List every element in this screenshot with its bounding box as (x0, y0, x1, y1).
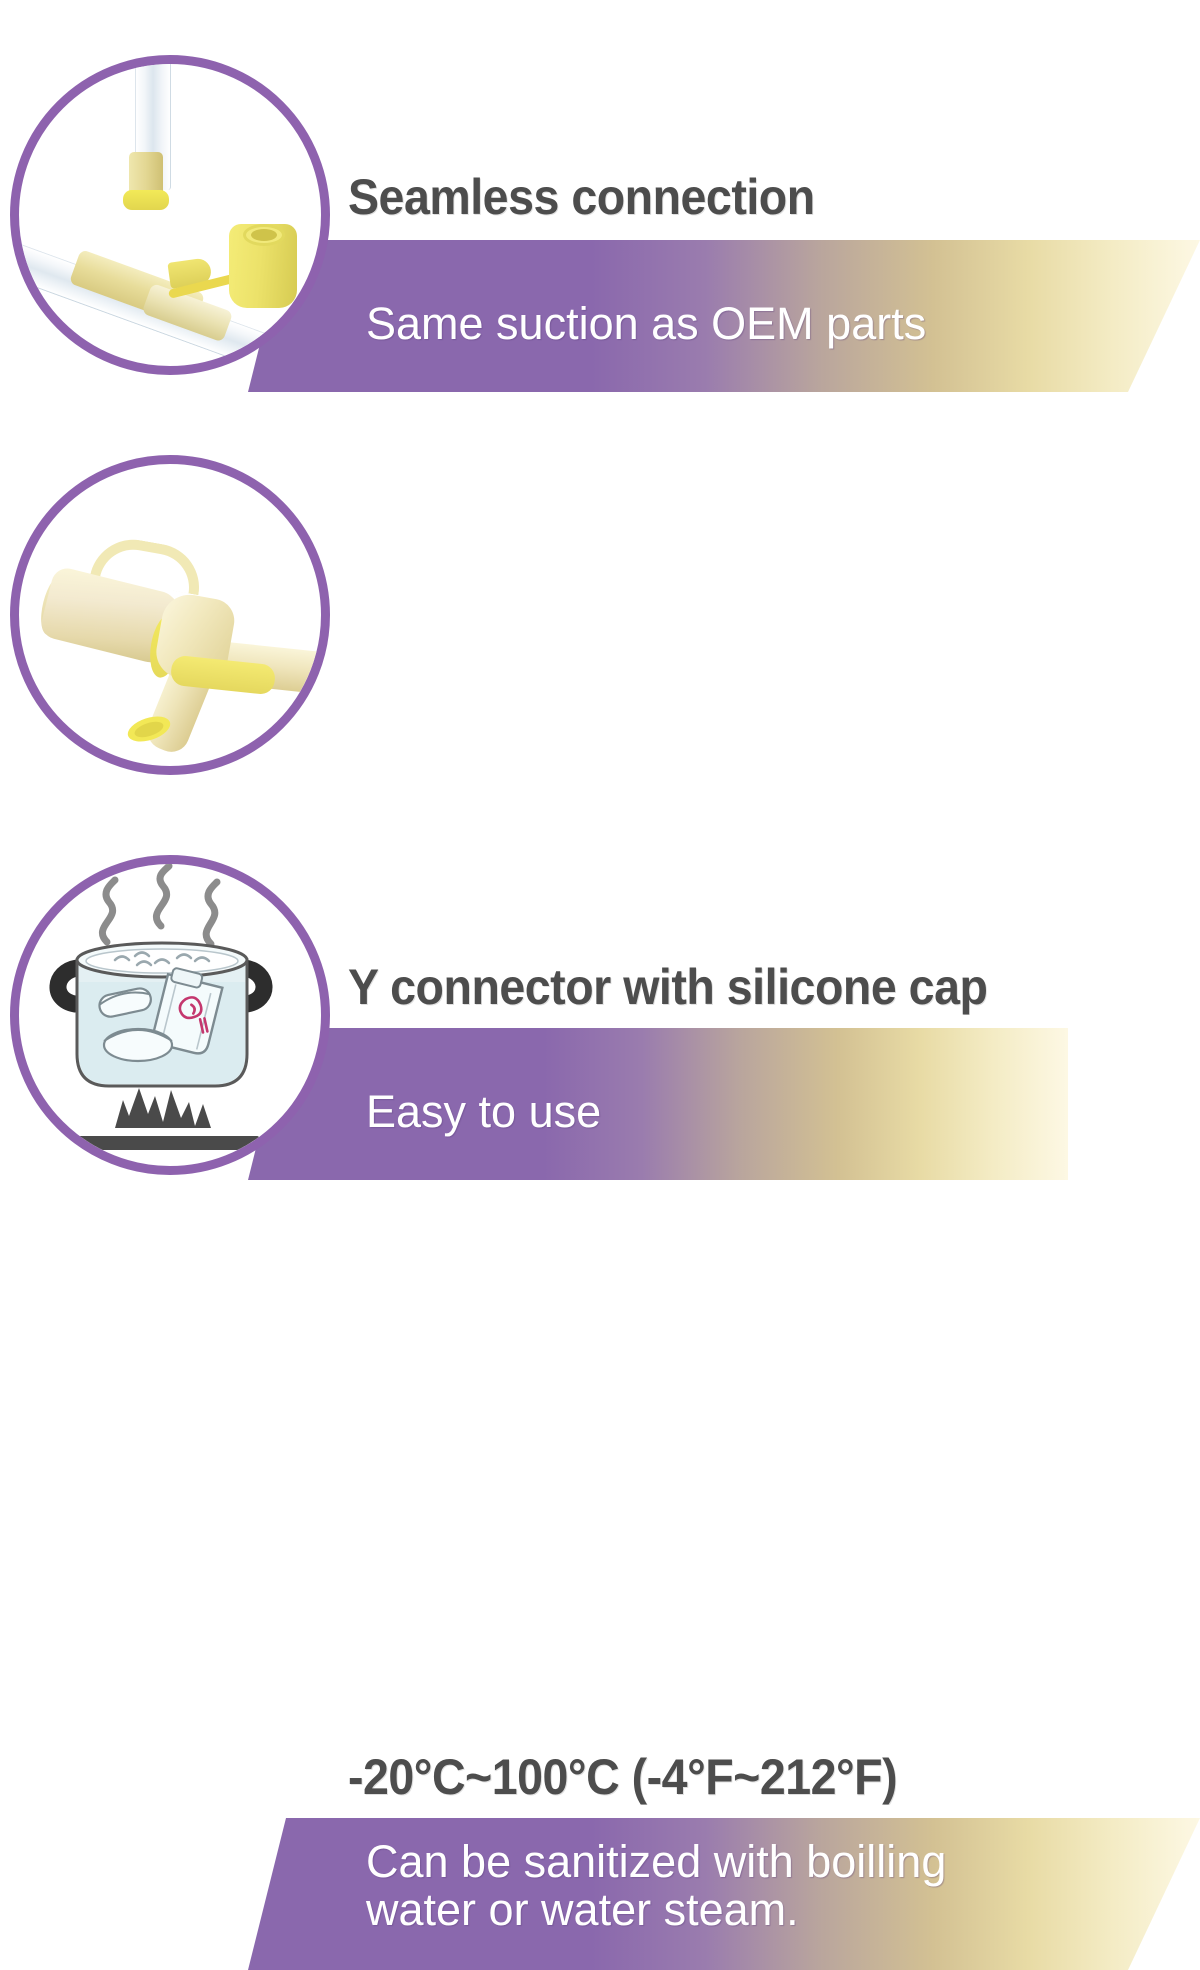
pot-rim-inner (86, 949, 238, 973)
feature-heading-3: -20°C~100°C (-4°F~212°F) (348, 1748, 897, 1806)
infographic-page: Seamless connection Same suction as OEM … (0, 0, 1200, 1200)
feature-heading-1: Seamless connection (348, 168, 815, 226)
stove-bar (63, 1136, 259, 1150)
feature-row-y-connector: Y connector with silicone cap Easy to us… (0, 400, 1200, 800)
feature-row-seamless-connection: Seamless connection Same suction as OEM … (0, 0, 1200, 400)
pot-handle-left (58, 968, 77, 1004)
feature-subtitle-2: Easy to use (366, 1088, 601, 1136)
feature-subtitle-1: Same suction as OEM parts (366, 300, 926, 348)
feature-heading-2: Y connector with silicone cap (348, 958, 987, 1016)
boiling-pot-svg (19, 864, 321, 1166)
lid-lower-icon (104, 1029, 172, 1061)
flame-icon (115, 1088, 211, 1128)
feature-image-circle-3 (10, 855, 330, 1175)
feature-subtitle-3: Can be sanitized with boilling water or … (366, 1838, 946, 1934)
y-connector-photo (19, 464, 321, 766)
feature-image-circle-2 (10, 455, 330, 775)
boiling-pot-illustration (19, 864, 321, 1166)
connector-ring (123, 190, 169, 210)
steam-icon (102, 866, 217, 944)
y-connector-on-tubing-photo (19, 64, 321, 366)
silicone-cap-bore (251, 229, 277, 241)
feature-image-circle-1 (10, 55, 330, 375)
